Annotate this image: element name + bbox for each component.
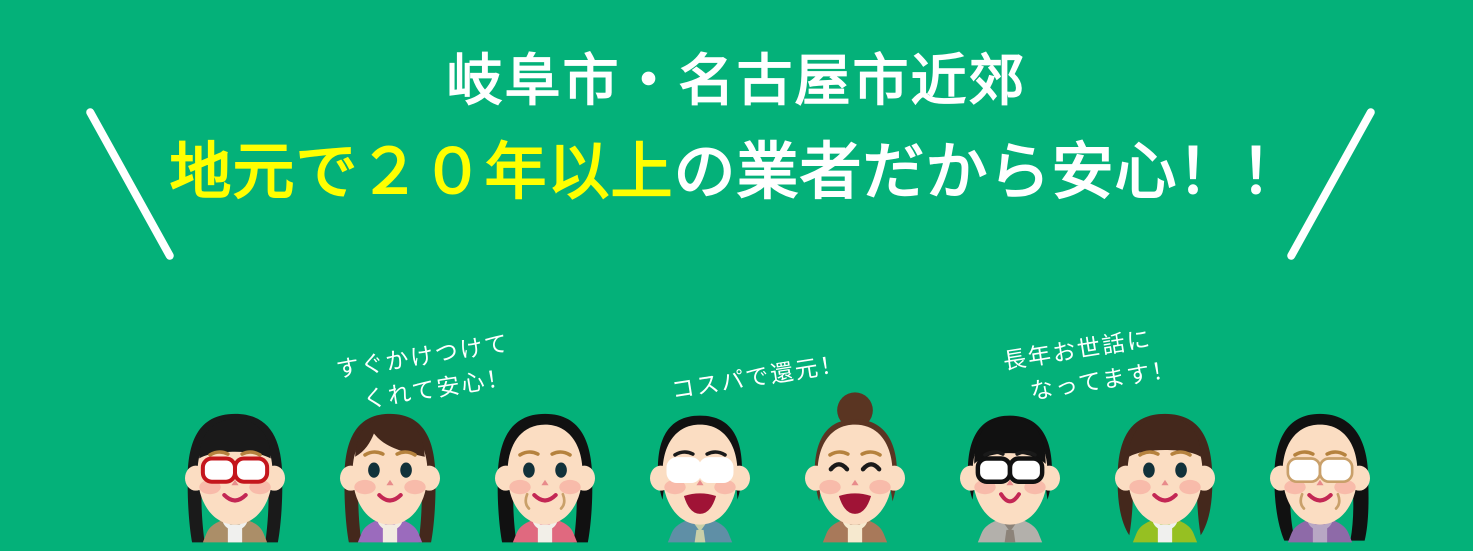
avatar-cheek-right (1179, 480, 1200, 494)
customer-avatar-row (0, 391, 1473, 551)
customer-avatar (470, 391, 620, 551)
avatar-cheek-right (869, 480, 890, 494)
customer-avatar (780, 391, 930, 551)
avatar-face (508, 425, 583, 525)
customer-avatar (315, 391, 465, 551)
headline-line-1: 岐阜市・名古屋市近郊 (0, 48, 1473, 116)
headline-line-2-white: の業者だから安心！！ (674, 135, 1304, 208)
avatar-glasses (203, 459, 267, 482)
avatar-cheek-left (354, 480, 375, 494)
customer-avatar (935, 391, 1085, 551)
avatar-glasses (978, 459, 1042, 482)
headline-line-2: 地元で２０年以上の業者だから安心！！ (0, 134, 1473, 210)
headline-line-2-yellow: 地元で２０年以上 (169, 135, 673, 208)
promo-banner: 岐阜市・名古屋市近郊 地元で２０年以上の業者だから安心！！ すぐかけつけて くれ… (0, 0, 1473, 551)
customer-avatar (1245, 391, 1395, 551)
avatar-cheek-right (404, 480, 425, 494)
avatar-cheek-left (819, 480, 840, 494)
avatar-cheek-right (559, 480, 580, 494)
avatar-cheek-left (1129, 480, 1150, 494)
customer-avatar (625, 391, 775, 551)
customer-avatar (160, 391, 310, 551)
headline-block: 岐阜市・名古屋市近郊 地元で２０年以上の業者だから安心！！ (0, 48, 1473, 210)
avatar-cheek-left (509, 480, 530, 494)
customer-avatar (1090, 391, 1240, 551)
